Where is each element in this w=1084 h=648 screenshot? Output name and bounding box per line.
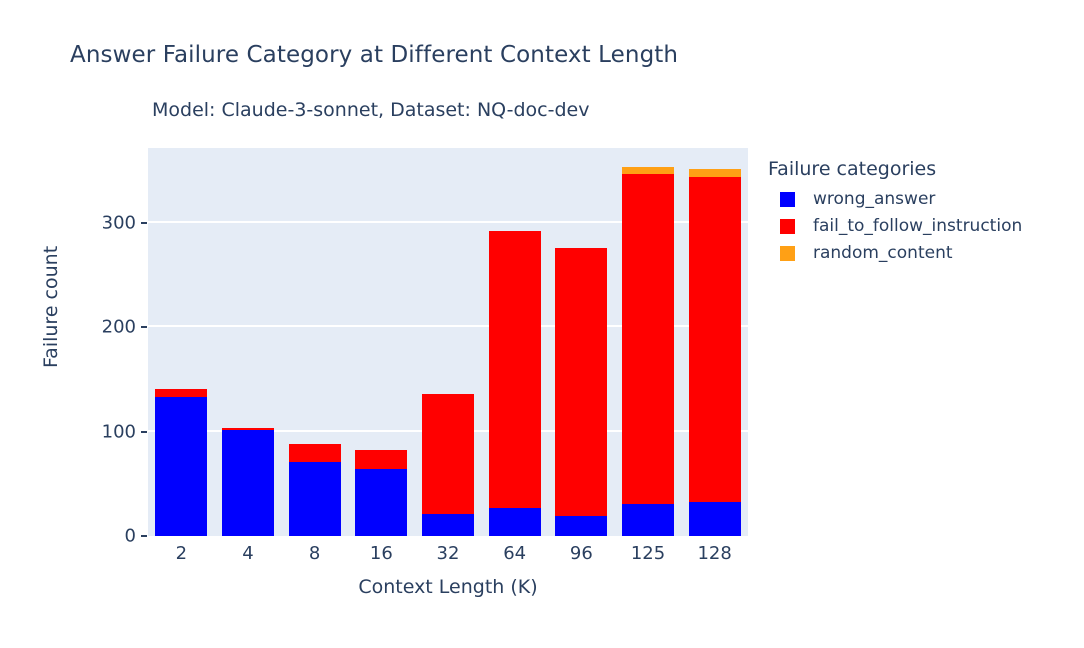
y-tick-label: 100 [70,421,136,442]
bar-segment-fail_to_follow_instruction[interactable] [355,450,407,469]
bar-segment-fail_to_follow_instruction[interactable] [422,394,474,514]
bar-group[interactable] [489,148,541,536]
y-tick-mark [141,326,147,328]
legend: Failure categories wrong_answerfail_to_f… [768,158,1022,271]
bar-segment-wrong_answer[interactable] [355,469,407,536]
bar-segment-fail_to_follow_instruction[interactable] [689,177,741,501]
y-axis-title: Failure count [40,338,62,368]
bar-segment-fail_to_follow_instruction[interactable] [155,389,207,397]
chart-title: Answer Failure Category at Different Con… [70,42,678,68]
legend-item-label: fail_to_follow_instruction [813,216,1022,236]
legend-item-label: wrong_answer [813,189,935,209]
legend-swatch-icon [780,246,795,261]
legend-item-random_content[interactable]: random_content [768,244,1022,262]
bar-segment-fail_to_follow_instruction[interactable] [289,444,341,462]
bar-segment-wrong_answer[interactable] [155,397,207,536]
y-tick-label: 300 [70,213,136,234]
bar-segment-wrong_answer[interactable] [555,516,607,536]
y-tick-label: 200 [70,317,136,338]
x-axis-title: Context Length (K) [148,576,748,598]
y-tick-mark [141,431,147,433]
legend-item-fail_to_follow_instruction[interactable]: fail_to_follow_instruction [768,217,1022,235]
bars-layer [148,148,748,536]
bar-segment-fail_to_follow_instruction[interactable] [222,428,274,430]
bar-segment-random_content[interactable] [622,167,674,174]
y-tick-label: 0 [70,526,136,547]
legend-swatch-icon [780,192,795,207]
bar-segment-wrong_answer[interactable] [222,430,274,536]
bar-segment-wrong_answer[interactable] [689,502,741,536]
chart-subtitle: Model: Claude-3-sonnet, Dataset: NQ-doc-… [152,99,589,121]
x-tick-label: 128 [675,543,755,564]
bar-segment-fail_to_follow_instruction[interactable] [622,174,674,504]
legend-items: wrong_answerfail_to_follow_instructionra… [768,190,1022,262]
bar-group[interactable] [689,148,741,536]
bar-segment-fail_to_follow_instruction[interactable] [555,248,607,516]
plot-area [148,148,748,536]
y-tick-mark [141,222,147,224]
legend-swatch-icon [780,219,795,234]
bar-group[interactable] [555,148,607,536]
bar-group[interactable] [422,148,474,536]
bar-group[interactable] [355,148,407,536]
bar-segment-wrong_answer[interactable] [489,508,541,536]
bar-group[interactable] [222,148,274,536]
bar-group[interactable] [622,148,674,536]
bar-group[interactable] [155,148,207,536]
bar-segment-random_content[interactable] [689,169,741,177]
bar-segment-wrong_answer[interactable] [289,462,341,536]
legend-item-wrong_answer[interactable]: wrong_answer [768,190,1022,208]
y-tick-mark [141,535,147,537]
legend-item-label: random_content [813,243,953,263]
chart-container: Answer Failure Category at Different Con… [0,0,1084,648]
bar-segment-wrong_answer[interactable] [622,504,674,536]
legend-title: Failure categories [768,158,1022,180]
bar-segment-fail_to_follow_instruction[interactable] [489,231,541,507]
bar-group[interactable] [289,148,341,536]
bar-segment-wrong_answer[interactable] [422,514,474,536]
